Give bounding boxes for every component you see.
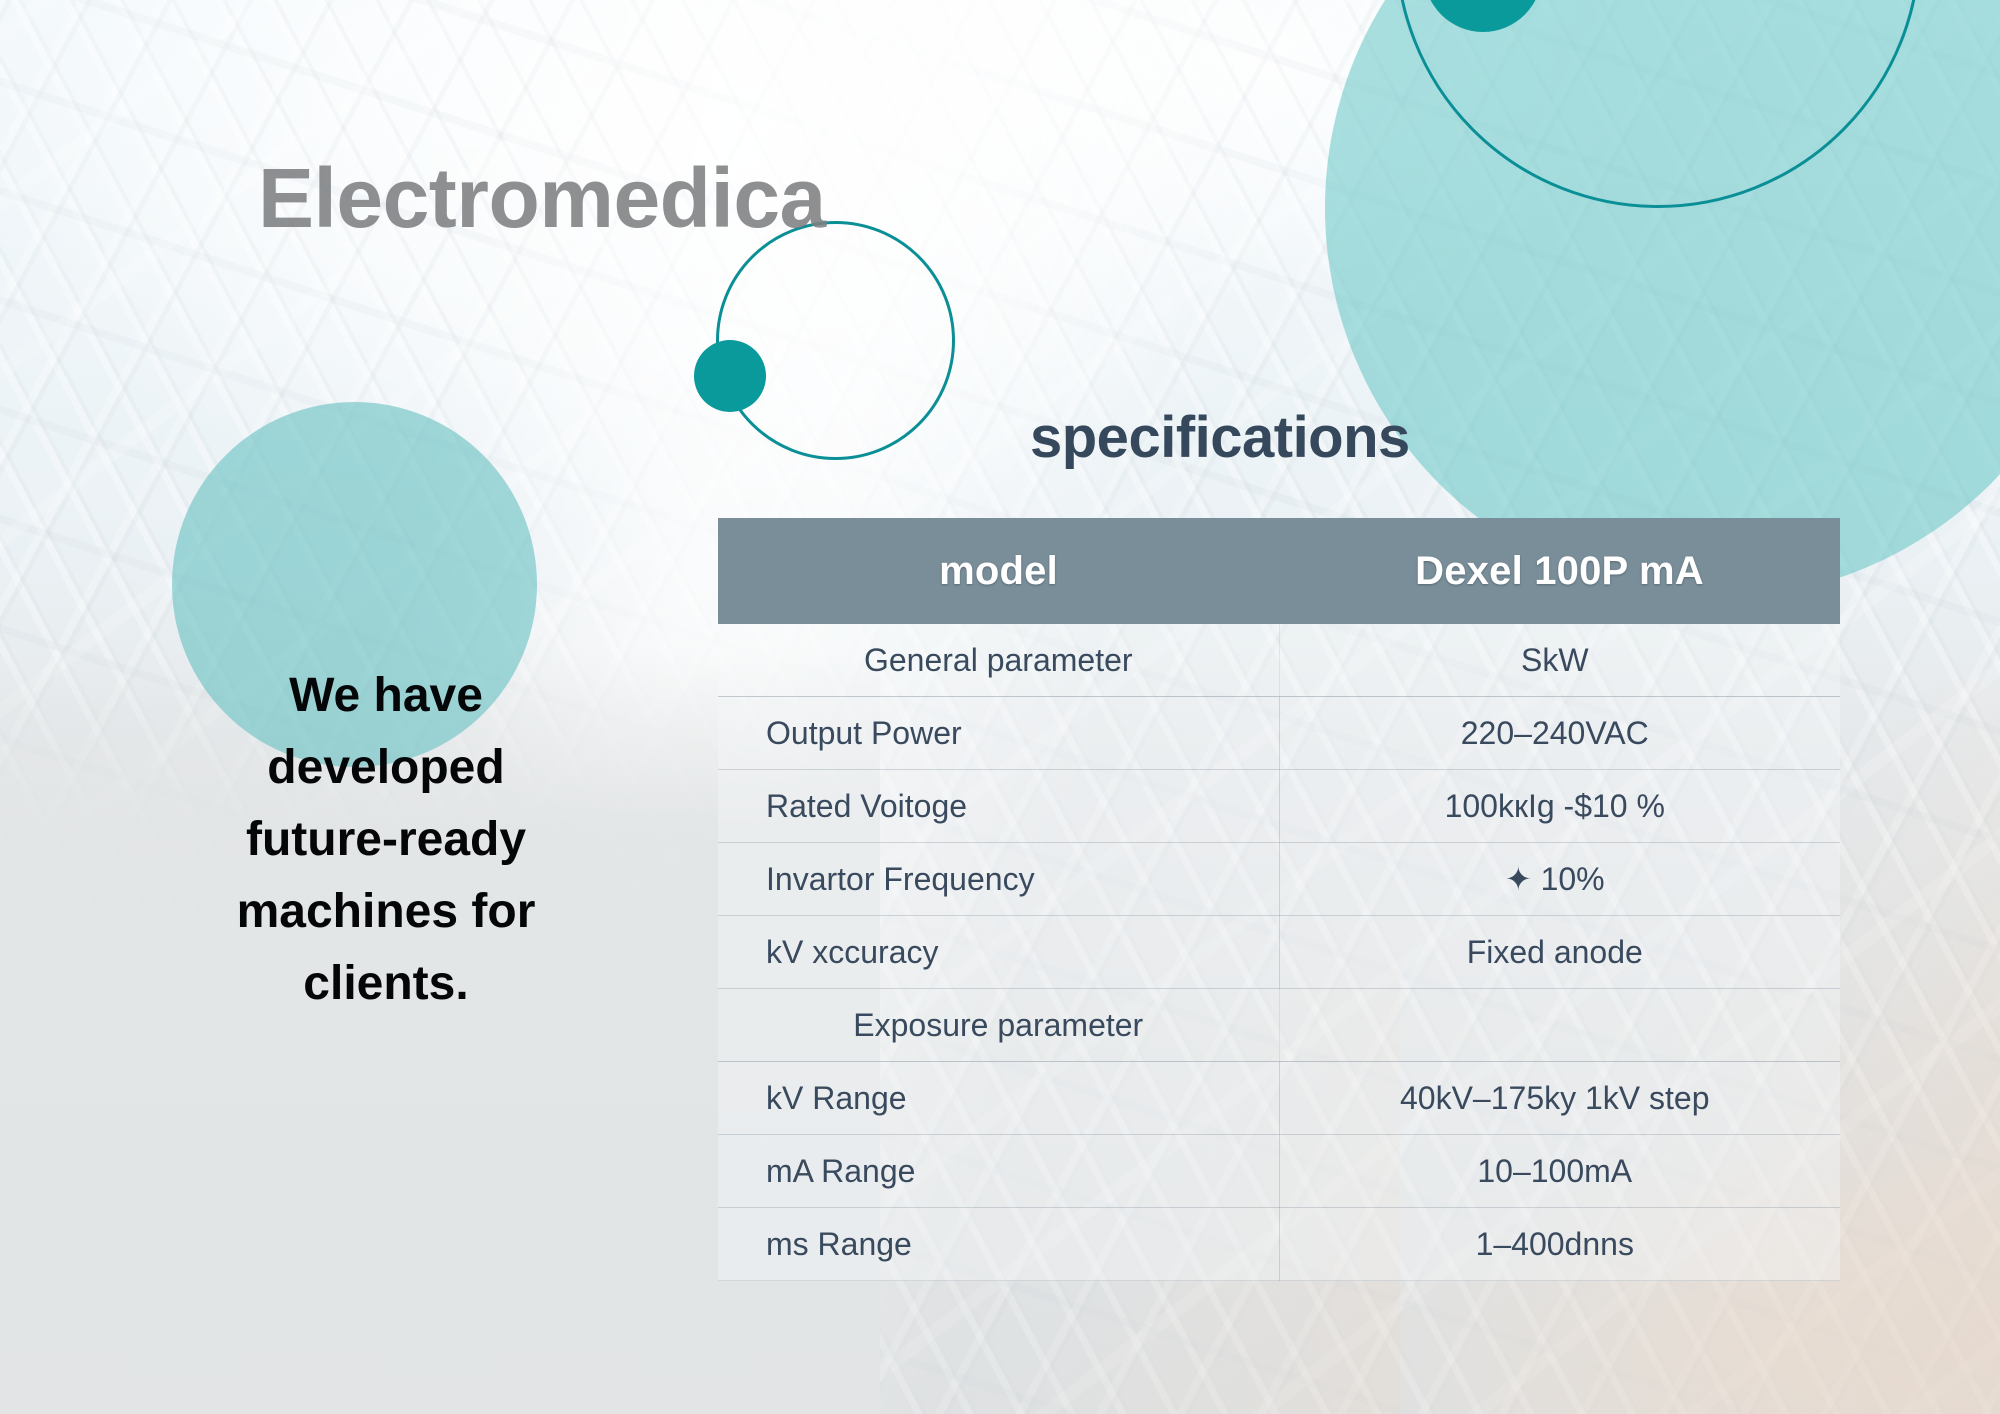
table-row: Exposure parameter <box>718 989 1840 1062</box>
table-row: General parameterSkW <box>718 624 1840 697</box>
table-cell-label: Rated Voitoge <box>718 770 1279 843</box>
table-cell-value: 1–400dnns <box>1279 1208 1840 1281</box>
specifications-table: model Dexel 100P mA General parameterSkW… <box>718 518 1840 1281</box>
column-header-product: Dexel 100P mA <box>1279 518 1840 624</box>
table-cell-label: kV xccuracy <box>718 916 1279 989</box>
table-cell-label: mA Range <box>718 1135 1279 1208</box>
table-row: kV xccuracyFixed anode <box>718 916 1840 989</box>
table-cell-value: 220–240VAC <box>1279 697 1840 770</box>
table-head: model Dexel 100P mA <box>718 518 1840 624</box>
table-cell-label: Invartor Frequency <box>718 843 1279 916</box>
decor-dot-center <box>694 340 766 412</box>
table-row: mA Range10–100mA <box>718 1135 1840 1208</box>
table-cell-value: 10–100mA <box>1279 1135 1840 1208</box>
table-cell-label: Output Power <box>718 697 1279 770</box>
table-cell-value <box>1279 989 1840 1062</box>
table-row: Rated Voitoge100kкIɡ -$10 % <box>718 770 1840 843</box>
table-cell-label: ms Range <box>718 1208 1279 1281</box>
table-body: General parameterSkWOutput Power220–240V… <box>718 624 1840 1281</box>
table-cell-label: kV Range <box>718 1062 1279 1135</box>
table-row: kV Range40kV–175kу 1kV step <box>718 1062 1840 1135</box>
table-cell-value: ✦ 10% <box>1279 843 1840 916</box>
table-row: ms Range1–400dnns <box>718 1208 1840 1281</box>
decor-ring-center <box>716 221 955 460</box>
table-cell-value: Fixed anode <box>1279 916 1840 989</box>
slide-canvas: Electromedica specifications We have dev… <box>0 0 2000 1414</box>
table-cell-value: 40kV–175kу 1kV step <box>1279 1062 1840 1135</box>
table-header-row: model Dexel 100P mA <box>718 518 1840 624</box>
specifications-heading: specifications <box>1030 404 1410 471</box>
column-header-model: model <box>718 518 1279 624</box>
lead-paragraph: We have developed future-ready machines … <box>186 660 586 1020</box>
table-cell-label: General parameter <box>718 624 1279 697</box>
page-title: Electromedica <box>258 150 826 247</box>
table-row: Output Power220–240VAC <box>718 697 1840 770</box>
table-row: Invartor Frequency✦ 10% <box>718 843 1840 916</box>
table-cell-value: SkW <box>1279 624 1840 697</box>
table-cell-label: Exposure parameter <box>718 989 1279 1062</box>
table-cell-value: 100kкIɡ -$10 % <box>1279 770 1840 843</box>
